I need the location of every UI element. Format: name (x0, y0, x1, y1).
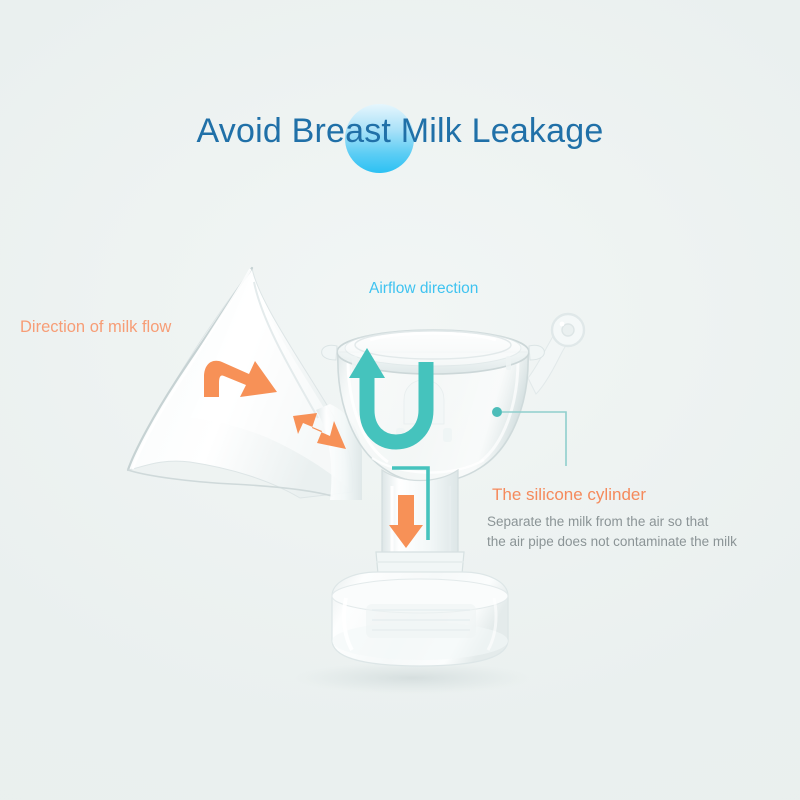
milk-down-arrow (389, 495, 423, 548)
milk-flow-arrow-1 (204, 361, 277, 397)
airflow-label: Airflow direction (369, 280, 478, 298)
air-pipe-line (392, 468, 428, 540)
silicone-cylinder-heading: The silicone cylinder (492, 485, 646, 505)
milk-flow-label: Direction of milk flow (20, 318, 171, 337)
milk-flow-arrow-2 (293, 413, 346, 449)
cylinder-desc-line-2: the air pipe does not contaminate the mi… (487, 532, 787, 552)
neck-tube (376, 470, 464, 574)
infographic-canvas: Avoid Breast Milk Leakage Direction of m… (0, 0, 800, 800)
breast-shield-funnel (128, 268, 362, 500)
pump-base (332, 572, 508, 666)
valve-stem-connector (528, 314, 584, 394)
silicone-cylinder-description: Separate the milk from the air so that t… (487, 512, 787, 552)
airflow-u-arrow (349, 348, 426, 442)
product-shadow (294, 662, 530, 694)
cylinder-callout-line (492, 407, 566, 466)
silicone-cylinder-bowl (338, 352, 528, 483)
ring-loop (552, 314, 584, 346)
page-title-block: Avoid Breast Milk Leakage (0, 104, 800, 184)
page-title: Avoid Breast Milk Leakage (0, 112, 800, 151)
cylinder-desc-line-1: Separate the milk from the air so that (487, 512, 787, 532)
cylinder-lid-rim (322, 330, 545, 374)
